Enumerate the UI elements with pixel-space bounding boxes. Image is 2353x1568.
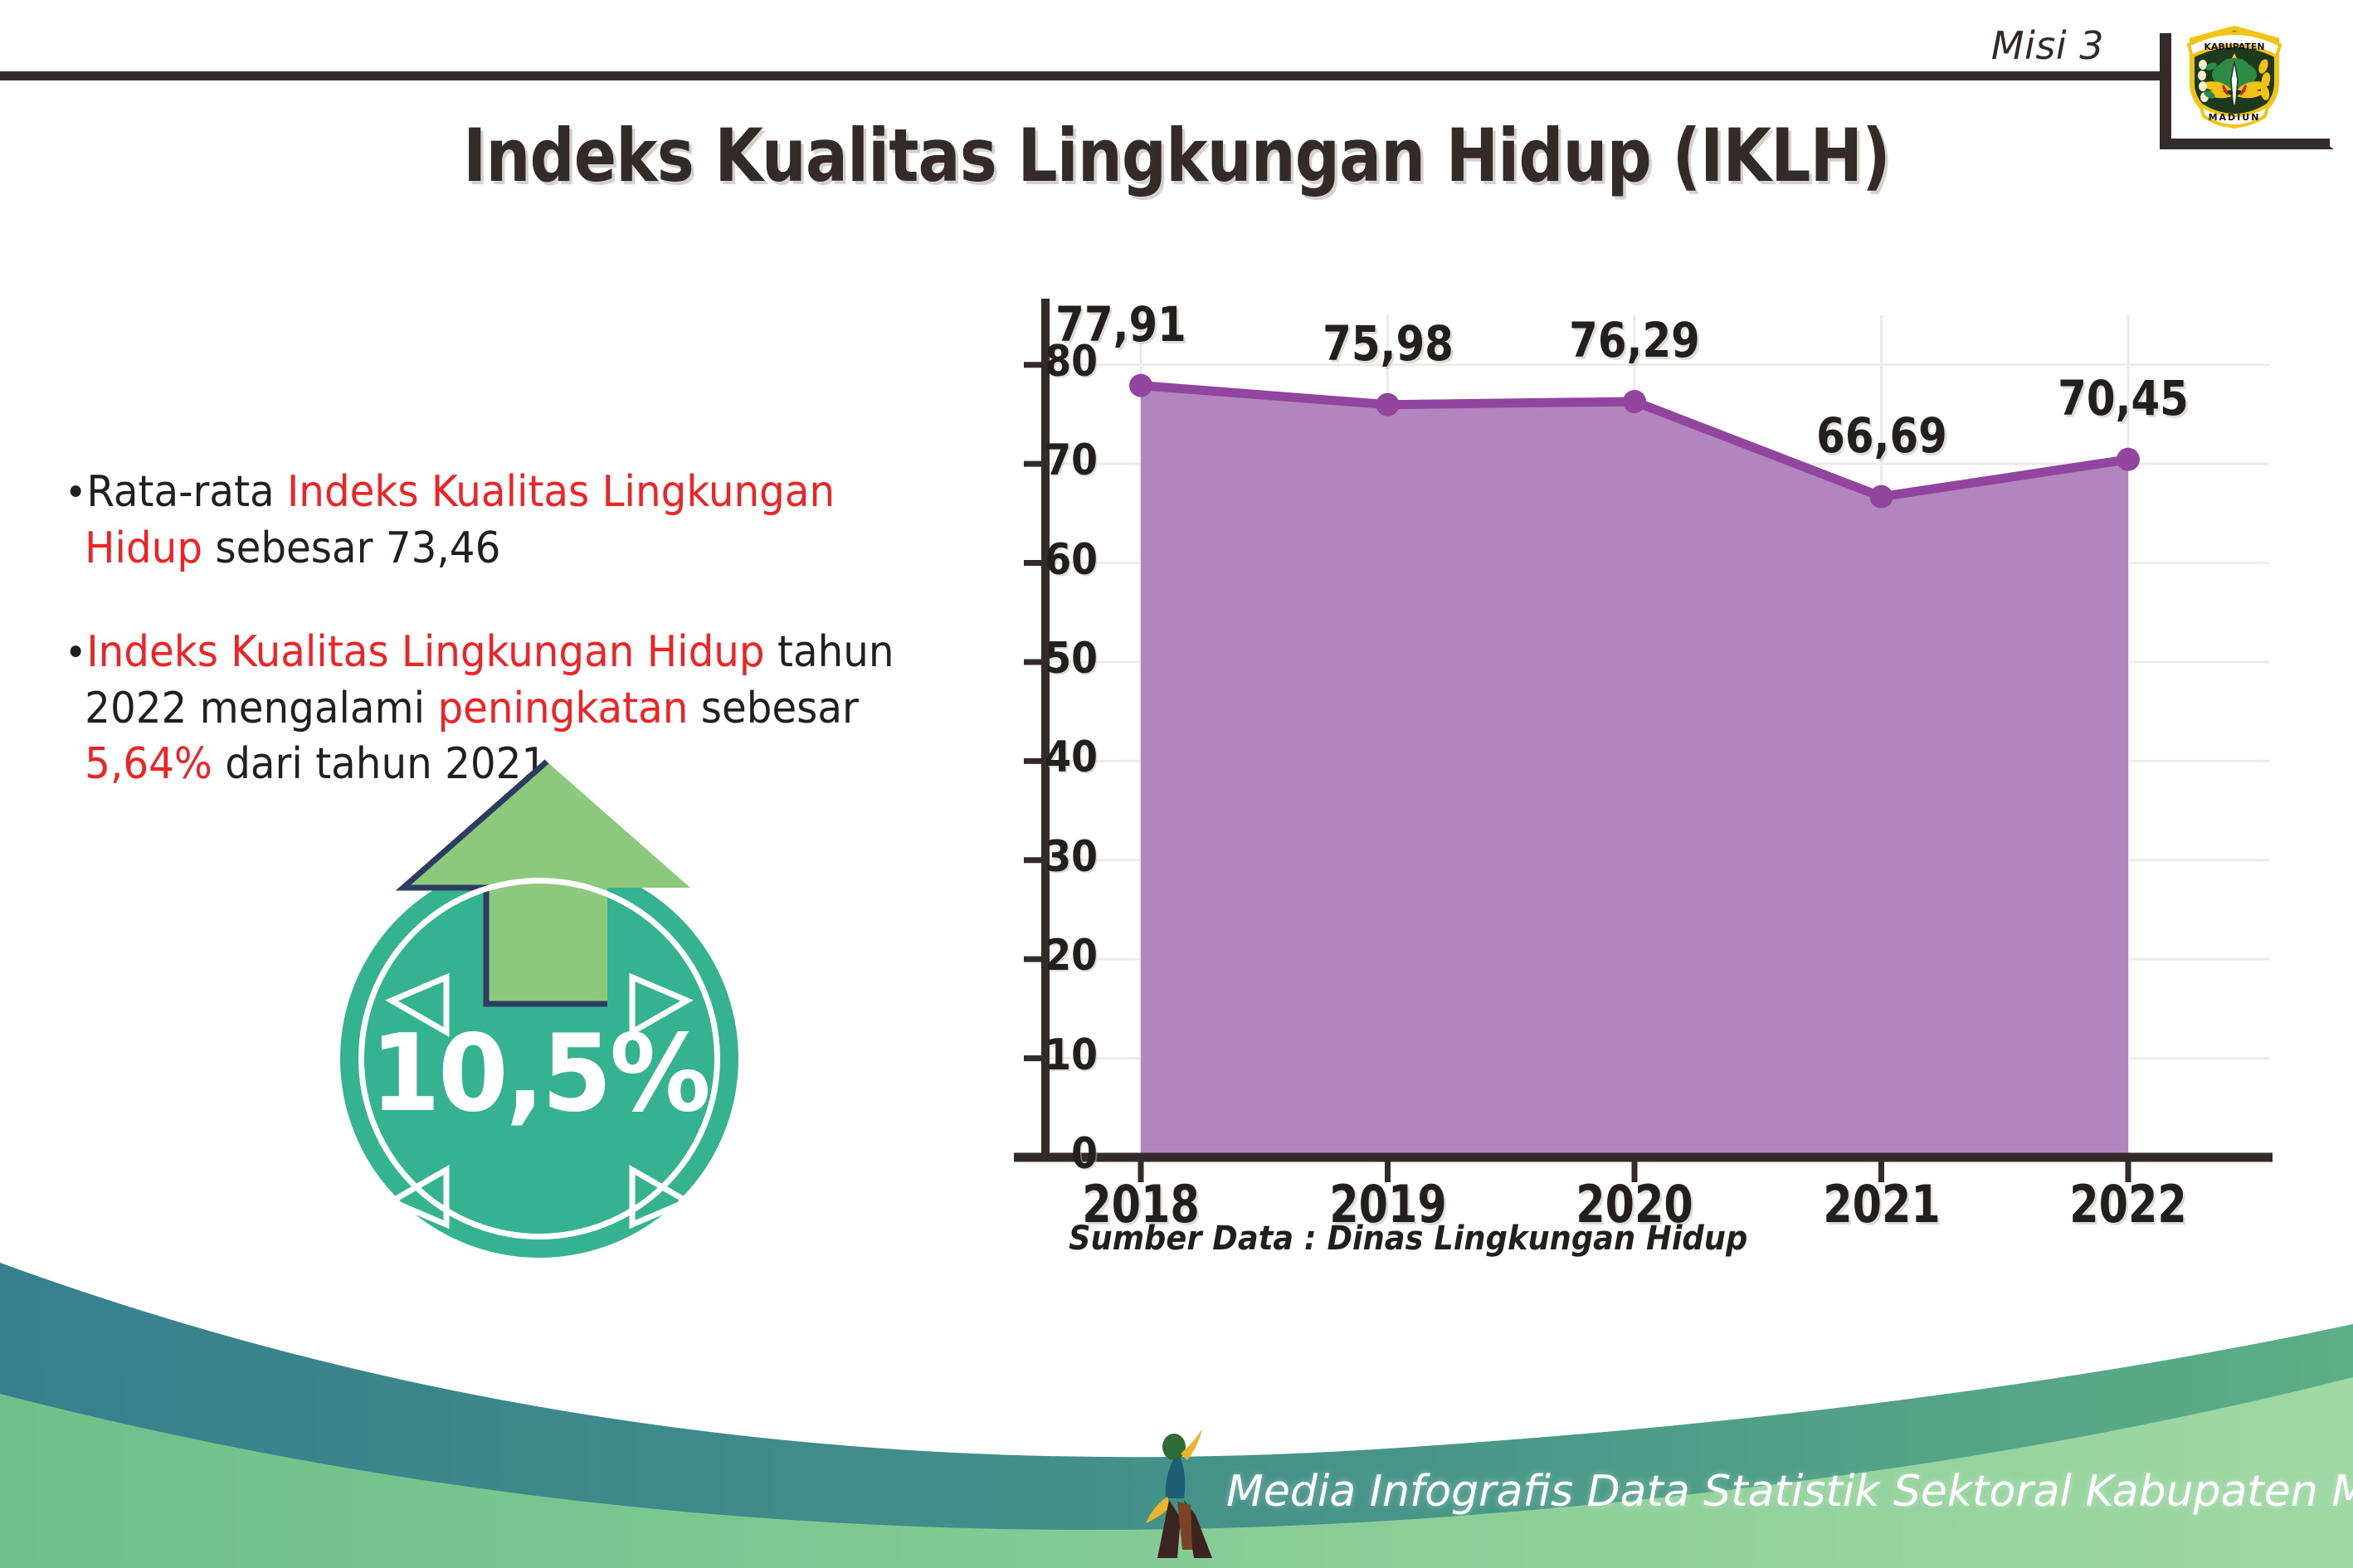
x-axis-tick-label: 2021 — [1800, 1174, 1963, 1234]
bullet-marker: • — [65, 470, 86, 516]
bullet-text-segment: Indeks Kualitas Lingkungan Hidup — [86, 627, 764, 677]
data-point-label: 76,29 — [1542, 312, 1727, 368]
chart-plot-svg — [983, 299, 2277, 1195]
iklh-area-chart: 80706050403020100 20182019202020212022 7… — [983, 299, 2277, 1195]
y-axis-tick-label: 20 — [988, 931, 1098, 981]
y-axis-tick-label: 60 — [988, 535, 1098, 585]
statistik-figure-logo-icon — [1141, 1425, 1228, 1562]
header-rule — [0, 71, 2163, 80]
y-axis-tick-label: 10 — [988, 1030, 1098, 1080]
kabupaten-madiun-emblem-icon: KABUPATEN — [2184, 15, 2285, 129]
y-axis-tick-labels: 80706050403020100 — [973, 299, 1098, 1195]
bullet-text-segment: 5,64% — [85, 739, 212, 789]
svg-text:MADIUN: MADIUN — [2209, 112, 2261, 123]
infographic-page: Misi 3 KABUPATEN — [0, 0, 2353, 1568]
svg-text:KABUPATEN: KABUPATEN — [2204, 41, 2264, 52]
y-axis-tick-label: 40 — [988, 733, 1098, 782]
bullet-item-1: •Rata-rata Indeks Kualitas Lingkungan Hi… — [65, 465, 906, 577]
growth-badge: 10,5% — [322, 755, 770, 1220]
bullet-text-segment: sebesar 73,46 — [202, 523, 500, 573]
data-point-label: 66,69 — [1789, 407, 1975, 464]
page-title: Indeks Kualitas Lingkungan Hidup (IKLH) — [165, 113, 2189, 198]
y-axis-tick-label: 0 — [988, 1129, 1098, 1179]
footer-caption: Media Infografis Data Statistik Sektoral… — [1226, 1467, 2353, 1517]
bullet-marker: • — [65, 630, 86, 676]
bullet-text-segment: peningkatan — [437, 684, 688, 733]
footer-band: Media Infografis Data Statistik Sektoral… — [0, 1244, 2353, 1568]
data-point-label: 75,98 — [1295, 315, 1481, 372]
data-point-label: 70,45 — [2030, 370, 2216, 426]
y-axis-tick-label: 30 — [988, 832, 1098, 882]
y-axis-tick-label: 50 — [988, 634, 1098, 684]
x-axis-tick-label: 2022 — [2047, 1174, 2210, 1234]
bullet-text-segment: sebesar — [688, 684, 858, 733]
misi-label: Misi 3 — [1991, 23, 2104, 68]
logo-frame-bevel — [2319, 139, 2334, 149]
y-axis-tick-label: 70 — [988, 436, 1098, 485]
data-point-label: 77,91 — [1028, 296, 1214, 353]
badge-value: 10,5% — [350, 1012, 728, 1136]
bullet-text-segment: Rata-rata — [86, 467, 287, 517]
